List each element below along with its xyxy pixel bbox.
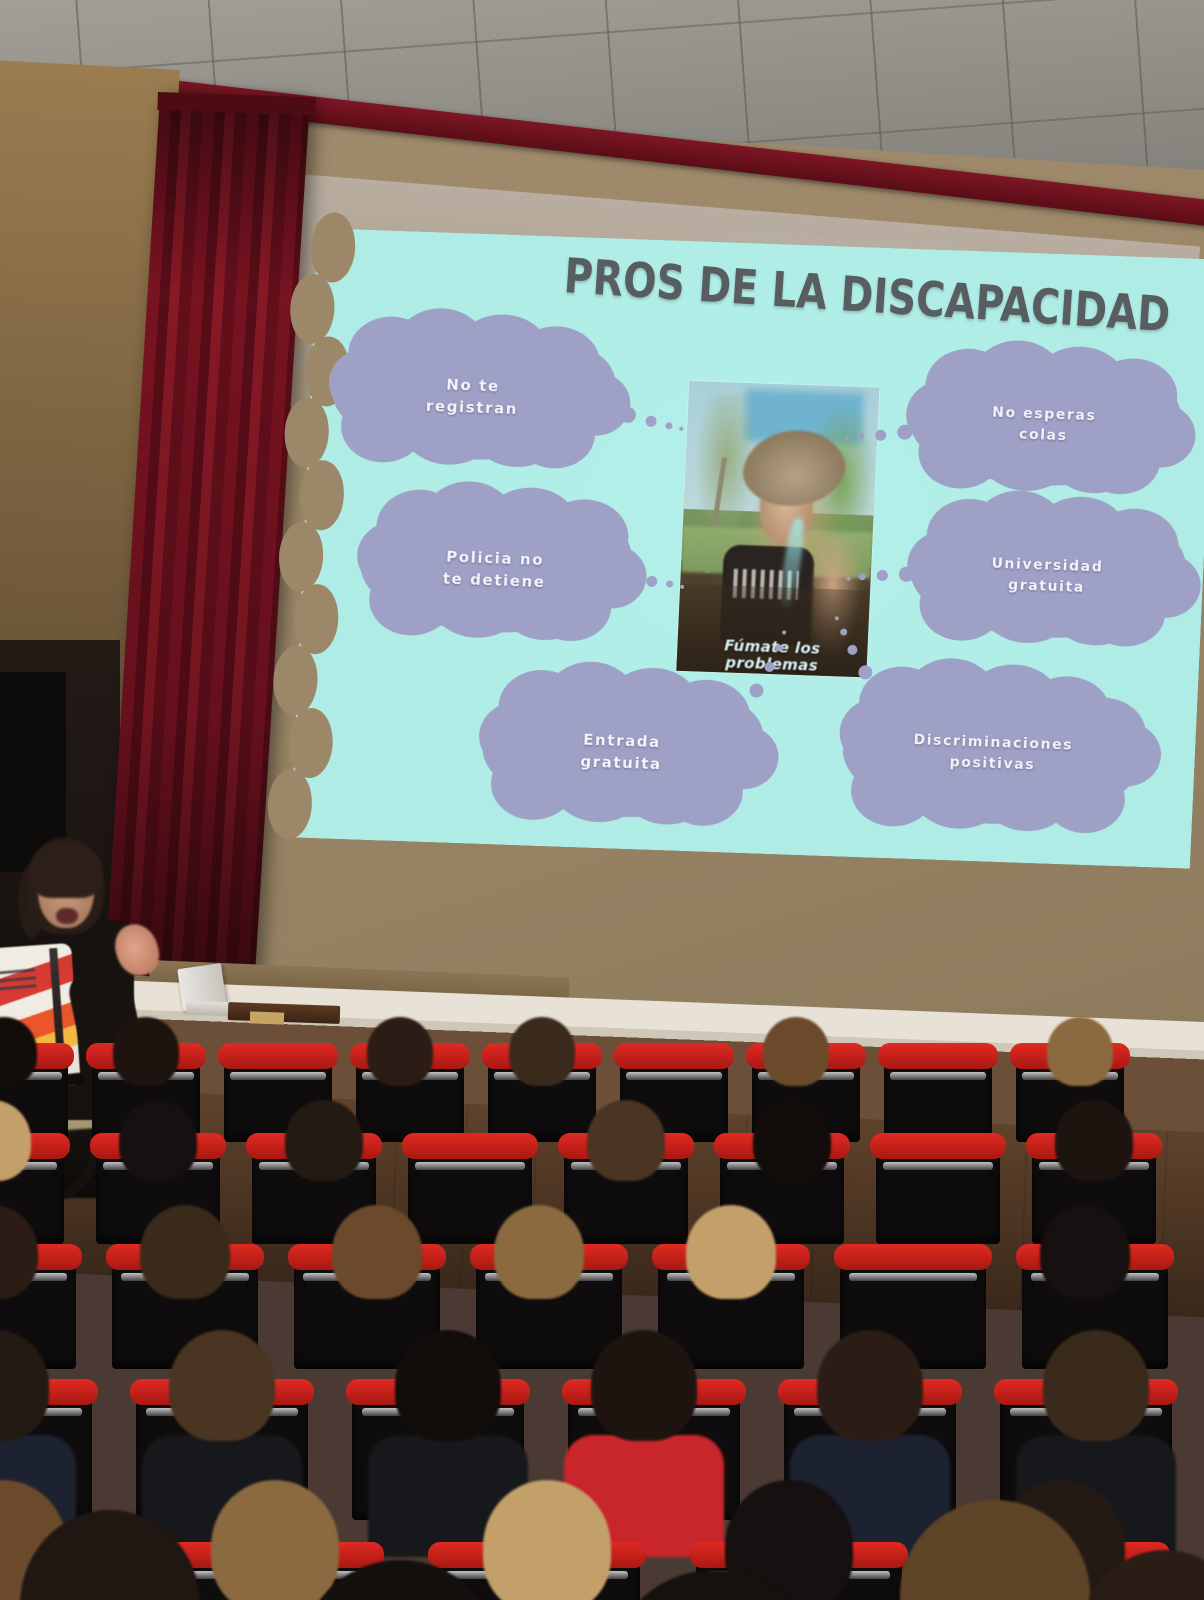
audience-head [1047, 1017, 1113, 1086]
audience-head [686, 1205, 776, 1299]
jacket-text-patch [0, 968, 37, 993]
audience-head [509, 1017, 575, 1086]
cloud-tail-dot [858, 665, 873, 679]
audience-head [1043, 1330, 1150, 1441]
audience-head [140, 1205, 230, 1299]
audience-head [587, 1100, 664, 1181]
audience-head [591, 1330, 698, 1441]
auditorium-seat[interactable] [876, 1146, 1000, 1244]
audience-head [1040, 1205, 1130, 1299]
audience-head [169, 1330, 276, 1441]
cloud-tail-dot [835, 616, 839, 620]
audience-head [332, 1205, 422, 1299]
audience-head [113, 1017, 179, 1086]
audience-head [395, 1330, 502, 1441]
presenter-fringe [30, 842, 102, 898]
projected-slide: PROS DE LA DISCAPACIDAD Fúmate los probl… [290, 228, 1204, 869]
cloud-tail-dot [847, 645, 857, 655]
desk-object-small [250, 1011, 284, 1024]
audience-head [119, 1100, 196, 1181]
audience-head [817, 1330, 924, 1441]
audience-head [494, 1205, 584, 1299]
audience-head [753, 1100, 830, 1181]
cloud-tail-dot [840, 628, 847, 635]
audience-head [285, 1100, 362, 1181]
audience-seating [0, 1030, 1204, 1600]
cloud-tail [290, 228, 1204, 869]
audience-head [763, 1017, 829, 1086]
photo-scene: PROS DE LA DISCAPACIDAD Fúmate los probl… [0, 0, 1204, 1600]
audience-head [1055, 1100, 1132, 1181]
presenter-mouth [56, 908, 78, 924]
auditorium-seat[interactable] [884, 1056, 992, 1142]
audience-head [211, 1480, 340, 1600]
audience-head [367, 1017, 433, 1086]
